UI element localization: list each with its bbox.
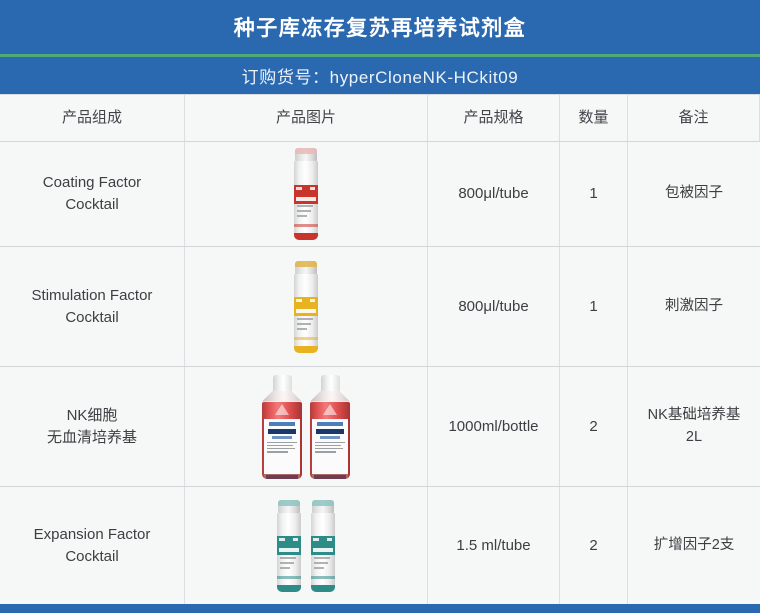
table-row: Coating FactorCocktail [0,142,760,247]
bottle-subbar [320,436,340,439]
media-bottle-icon [262,375,302,479]
vial-cap-band [295,148,317,154]
cell-note: 包被因子 [628,142,760,246]
table-row: Stimulation FactorCocktail [0,247,760,367]
vial-ring [294,337,318,340]
bottle-logo [269,422,295,426]
header-subtitle-bar: 订购货号：hyperCloneNK-HCkit09 [0,57,760,94]
bottle-subbar [272,436,292,439]
cell-spec: 1000ml/bottle [428,367,560,486]
media-bottle-icon [310,375,350,479]
cell-composition: Expansion FactorCocktail [0,487,185,604]
column-header-composition: 产品组成 [0,95,185,141]
product-image-bottles [189,369,423,484]
bottle-shoulder [310,391,350,402]
vial-cap-band [278,500,300,506]
bottle-label-text [267,442,297,455]
bottle-cap [273,375,292,391]
vial-foot [294,346,318,353]
column-header-qty: 数量 [560,95,628,141]
cell-composition: Stimulation FactorCocktail [0,247,185,366]
cell-product-image [185,367,428,486]
vial-cap-band [312,500,334,506]
bottle-label [312,419,348,479]
bottle-barrel [310,402,350,479]
bottle-cap [321,375,340,391]
column-header-note: 备注 [628,95,760,141]
vial-label-text [314,557,332,572]
column-header-spec: 产品规格 [428,95,560,141]
bottle-barrel [262,402,302,479]
cell-product-image [185,487,428,604]
cryovial-icon [293,261,319,353]
vial-foot [277,585,301,592]
cell-composition: Coating FactorCocktail [0,142,185,246]
page-title: 种子库冻存复苏再培养试剂盒 [234,12,527,42]
cryovial-icon [293,148,319,240]
header-title-bar: 种子库冻存复苏再培养试剂盒 [0,0,760,54]
cell-spec: 1.5 ml/tube [428,487,560,604]
vial-body [311,513,335,592]
column-header-image: 产品图片 [185,95,428,141]
bottle-brand [316,429,344,434]
cell-spec: 800μl/tube [428,142,560,246]
vial-body [294,161,318,240]
vial-ring [294,224,318,227]
product-image-vials [189,489,423,602]
cryovial-icon [276,500,302,592]
vial-label-band [294,185,318,204]
cell-product-image [185,142,428,246]
cryovial-icon [310,500,336,592]
vial-label-band [277,536,301,555]
vial-label-text [280,557,298,572]
table-row: Expansion FactorCocktail [0,487,760,604]
product-image-vial [189,144,423,244]
bottle-base [264,474,300,479]
bottle-base [312,474,348,479]
table-header-row: 产品组成 产品图片 产品规格 数量 备注 [0,95,760,142]
cell-qty: 1 [560,247,628,366]
footer-bar [0,604,760,613]
vial-cap-band [295,261,317,267]
cell-note: NK基础培养基2L [628,367,760,486]
cell-product-image [185,247,428,366]
vial-foot [311,585,335,592]
vial-body [294,274,318,353]
cell-spec: 800μl/tube [428,247,560,366]
bottle-brand [268,429,296,434]
table-row: NK细胞无血清培养基 [0,367,760,487]
bottle-logo [317,422,343,426]
product-image-vial [189,249,423,364]
vial-ring [277,576,301,579]
bottle-shoulder [262,391,302,402]
kit-spec-sheet: 种子库冻存复苏再培养试剂盒 订购货号：hyperCloneNK-HCkit09 … [0,0,760,613]
vial-label-band [294,297,318,316]
cell-note: 扩增因子2支 [628,487,760,604]
bottle-highlight [275,404,289,415]
product-table: 产品组成 产品图片 产品规格 数量 备注 Coating FactorCockt… [0,94,760,604]
cell-qty: 2 [560,487,628,604]
order-number: 订购货号：hyperCloneNK-HCkit09 [242,63,519,88]
bottle-label-text [315,442,345,455]
vial-body [277,513,301,592]
cell-composition: NK细胞无血清培养基 [0,367,185,486]
vial-label-text [297,318,315,333]
bottle-highlight [323,404,337,415]
cell-qty: 2 [560,367,628,486]
vial-label-text [297,205,315,220]
cell-note: 刺激因子 [628,247,760,366]
cell-qty: 1 [560,142,628,246]
vial-ring [311,576,335,579]
bottle-label [264,419,300,479]
vial-label-band [311,536,335,555]
vial-foot [294,233,318,240]
